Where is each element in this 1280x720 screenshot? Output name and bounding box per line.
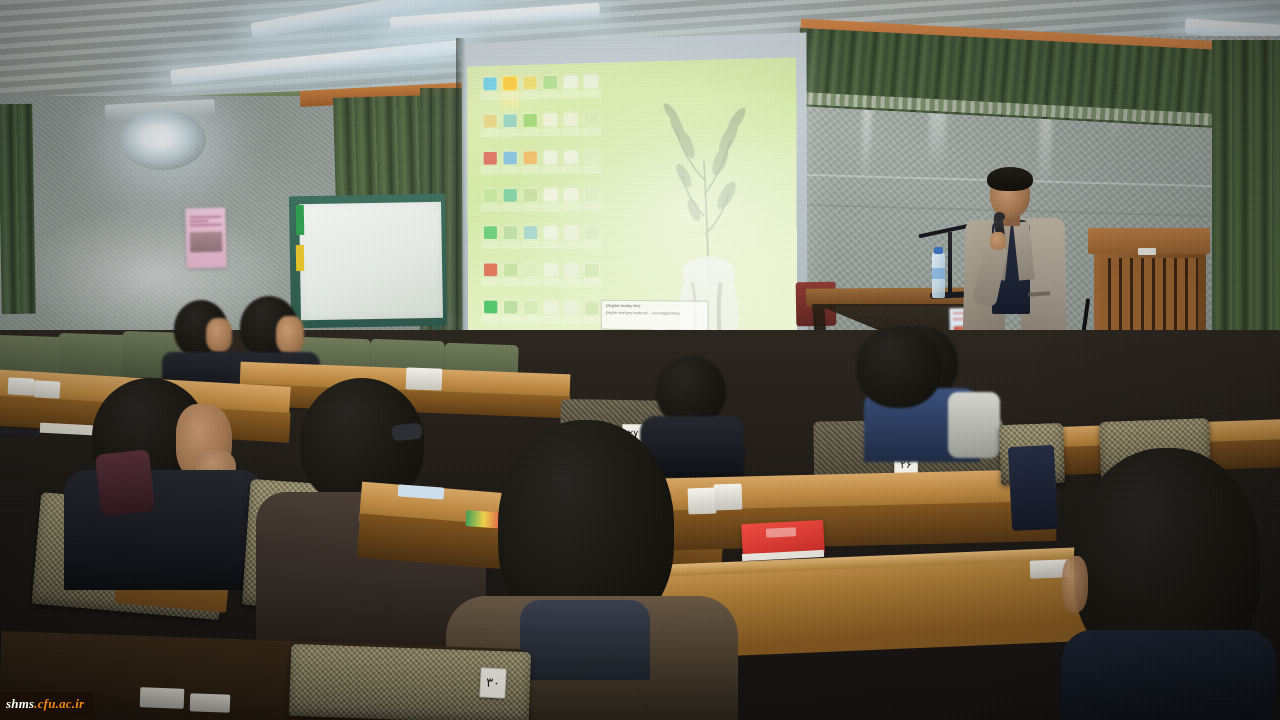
- icon-label: [561, 203, 580, 211]
- icon-glyph: [483, 77, 496, 90]
- icon-glyph: [544, 264, 558, 277]
- document-icon[interactable]: [541, 187, 560, 221]
- icon-label: [582, 203, 602, 211]
- site-watermark: shms.cfu.ac.ir: [0, 692, 94, 717]
- tissue-box: [406, 367, 443, 390]
- file-icon[interactable]: [541, 299, 560, 333]
- icon-label: [481, 204, 500, 212]
- icon-glyph: [544, 226, 558, 239]
- icon-label: [481, 315, 500, 323]
- icon-label: [521, 166, 540, 174]
- whiteboard-green-tag: [296, 205, 305, 235]
- icon-label: [501, 129, 520, 137]
- icon-label: [541, 241, 560, 249]
- tissue-box: [714, 484, 743, 511]
- desktop-notification-bubble[interactable]: (illegible tooltip title) (illegible sma…: [601, 300, 709, 331]
- pink-wall-poster: [185, 208, 226, 269]
- audience-scarf: [95, 449, 155, 516]
- paint-icon[interactable]: [521, 149, 540, 183]
- icon-glyph: [524, 226, 537, 239]
- green-curtain-left: [0, 104, 36, 315]
- icon-label: [561, 166, 580, 174]
- icon-label: [541, 203, 560, 211]
- tissue-box: [8, 377, 35, 395]
- compass-icon[interactable]: [541, 74, 560, 108]
- audience-collar: [520, 600, 650, 680]
- icon-label: [501, 241, 520, 249]
- icon-label: [521, 241, 540, 249]
- icon-glyph: [484, 226, 497, 239]
- icon-glyph: [564, 151, 578, 164]
- gear-icon[interactable]: [501, 224, 520, 257]
- icon-glyph: [584, 113, 598, 126]
- tissue-box: [688, 488, 717, 515]
- audience-head: [856, 326, 942, 408]
- icon-glyph: [564, 264, 578, 277]
- green-shield-icon[interactable]: [481, 299, 500, 333]
- misc-icon[interactable]: [582, 224, 602, 258]
- star-icon[interactable]: [481, 187, 500, 220]
- poster-image: [190, 232, 222, 253]
- icon-glyph: [564, 113, 578, 126]
- lectern-nameplate: [1138, 248, 1156, 255]
- icon-label: [541, 91, 560, 99]
- poster-line: [189, 216, 221, 219]
- icon-label: [481, 166, 500, 174]
- icon-label: [561, 128, 580, 136]
- globe-icon[interactable]: [500, 112, 519, 146]
- seat-placard: ۳۰: [479, 667, 507, 698]
- icon-label: [582, 279, 602, 287]
- green-curtain-right: [1212, 40, 1280, 340]
- icon-glyph: [544, 151, 558, 164]
- red-app-icon[interactable]: [481, 150, 500, 183]
- document-icon[interactable]: [581, 73, 601, 107]
- icon-label: [562, 316, 581, 324]
- whiteboard-yellow-tag: [296, 245, 304, 271]
- icon-label: [521, 129, 540, 137]
- archive-icon[interactable]: [541, 149, 560, 183]
- file-icon[interactable]: [541, 224, 560, 258]
- poster-line: [190, 220, 209, 222]
- icon-glyph: [503, 114, 516, 127]
- icon-label: [541, 128, 560, 136]
- app-icon[interactable]: [581, 111, 601, 145]
- icon-glyph: [585, 226, 599, 239]
- misc-icon[interactable]: [582, 300, 602, 334]
- icon-glyph: [524, 151, 537, 164]
- audience-face: [276, 316, 304, 354]
- wall-lamp-glow: [120, 110, 206, 170]
- camera-icon[interactable]: [501, 262, 520, 295]
- icon-label: [481, 129, 500, 137]
- icon-label: [541, 316, 560, 324]
- tissue-box: [34, 380, 61, 398]
- whiteboard[interactable]: [299, 202, 443, 320]
- icon-label: [541, 278, 560, 286]
- icon-glyph: [523, 76, 536, 89]
- bottle-label: [932, 268, 945, 279]
- file-icon[interactable]: [562, 299, 582, 333]
- icon-label: [500, 92, 519, 100]
- browser-icon[interactable]: [501, 299, 520, 333]
- microphone-stand: [948, 232, 952, 298]
- notebook-label: [766, 527, 796, 538]
- tools-icon[interactable]: [521, 262, 540, 296]
- notification-title: (illegible tooltip title): [606, 304, 704, 311]
- backpack: [948, 392, 1000, 458]
- document-icon[interactable]: [561, 73, 581, 107]
- file-icon[interactable]: [561, 224, 581, 258]
- icon-label: [582, 241, 602, 249]
- green-app-icon[interactable]: [481, 224, 500, 257]
- icon-glyph: [503, 77, 516, 90]
- microphone-head: [994, 212, 1005, 221]
- music-icon[interactable]: [541, 262, 560, 296]
- icon-glyph: [544, 113, 558, 126]
- pdf-icon[interactable]: [541, 111, 560, 145]
- icon-label: [541, 166, 560, 174]
- icon-label: [561, 90, 580, 98]
- shortcut-icon[interactable]: [582, 186, 602, 220]
- media-player-icon[interactable]: [500, 75, 519, 109]
- desktop-icon-grid[interactable]: [480, 73, 601, 336]
- misc-icon[interactable]: [582, 148, 602, 182]
- audience-torso: [1062, 630, 1276, 720]
- bottle-cap: [934, 247, 943, 254]
- audience-ear: [1062, 556, 1088, 612]
- icon-label: [581, 127, 601, 135]
- icon-label: [501, 204, 520, 212]
- icon-glyph: [504, 189, 517, 202]
- audience-face: [206, 318, 232, 352]
- icon-glyph: [484, 301, 497, 314]
- archive-icon[interactable]: [561, 149, 581, 183]
- icon-glyph: [585, 302, 599, 315]
- blue-app-icon[interactable]: [501, 150, 520, 184]
- photo-viewer-icon[interactable]: [520, 74, 539, 108]
- settings-icon[interactable]: [521, 299, 540, 333]
- icon-glyph: [543, 76, 557, 89]
- presenter-hand: [990, 232, 1006, 250]
- recycle-icon[interactable]: [501, 187, 520, 220]
- tissue-box: [140, 687, 185, 709]
- hair: [987, 167, 1033, 191]
- icon-label: [582, 165, 602, 173]
- icon-label: [481, 241, 500, 249]
- watermark-site-name: shms: [6, 696, 34, 711]
- icon-glyph: [585, 188, 599, 201]
- icon-glyph: [504, 226, 517, 239]
- icon-glyph: [524, 264, 537, 277]
- icon-glyph: [585, 264, 599, 277]
- icon-label: [521, 204, 540, 212]
- icon-glyph: [484, 189, 497, 202]
- wrench-icon[interactable]: [521, 187, 540, 221]
- network-icon[interactable]: [521, 224, 540, 258]
- phone-dialer-icon[interactable]: [480, 75, 499, 109]
- text-icon[interactable]: [562, 262, 582, 296]
- icon-glyph: [584, 75, 598, 88]
- icon-glyph: [565, 301, 579, 314]
- text-file-icon[interactable]: [561, 111, 581, 145]
- icon-label: [521, 316, 540, 324]
- icon-glyph: [564, 226, 578, 239]
- tissue-box: [190, 693, 231, 712]
- icon-label: [521, 278, 540, 286]
- misc-icon[interactable]: [582, 262, 602, 296]
- icon-glyph: [523, 114, 536, 127]
- icon-glyph: [484, 263, 497, 276]
- icon-label: [562, 279, 581, 287]
- audience-torso: [64, 470, 264, 590]
- icon-glyph: [584, 150, 598, 163]
- document-icon[interactable]: [561, 186, 581, 220]
- icon-glyph: [504, 301, 517, 314]
- icon-glyph: [484, 152, 497, 165]
- icon-label: [561, 241, 580, 249]
- icon-glyph: [544, 301, 558, 314]
- red-folder-icon[interactable]: [481, 261, 500, 294]
- eyeglasses: [391, 422, 423, 441]
- icon-label: [481, 278, 500, 286]
- icon-label: [582, 316, 602, 324]
- icon-label: [481, 92, 500, 100]
- draped-jacket: [1008, 445, 1058, 531]
- icon-label: [501, 166, 520, 174]
- icon-label: [581, 90, 601, 98]
- icon-label: [501, 278, 520, 286]
- icon-glyph: [564, 75, 578, 88]
- icon-glyph: [544, 189, 558, 202]
- poster-line: [190, 224, 222, 227]
- icon-glyph: [503, 152, 516, 165]
- watermark-domain: .cfu.ac.ir: [34, 696, 84, 711]
- icon-glyph: [504, 264, 517, 277]
- icon-glyph: [564, 188, 578, 201]
- notification-body: (illegible small grey tooltip text — fou…: [606, 310, 680, 315]
- leaf-icon[interactable]: [521, 112, 540, 146]
- icon-glyph: [483, 115, 496, 128]
- icon-glyph: [524, 189, 537, 202]
- lecture-hall-photograph: (illegible tooltip title) (illegible sma…: [0, 0, 1280, 720]
- icon-label: [501, 315, 520, 323]
- folder-icon[interactable]: [481, 113, 500, 147]
- icon-label: [520, 91, 539, 99]
- icon-glyph: [524, 301, 537, 314]
- projection-screen: (illegible tooltip title) (illegible sma…: [467, 57, 797, 375]
